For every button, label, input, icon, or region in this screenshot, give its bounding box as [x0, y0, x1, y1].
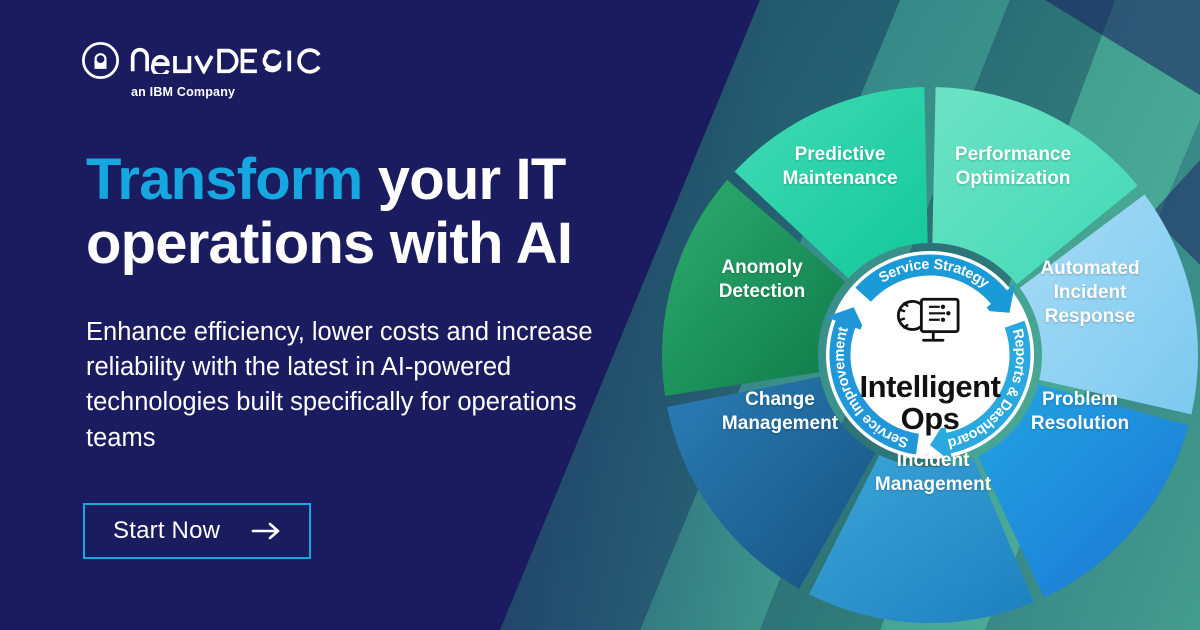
- neudesic-circle-mark-icon: [82, 42, 119, 79]
- hub-title: Intelligent Ops: [800, 371, 1060, 435]
- intelligent-ops-wheel: Service StrategyReports & DashboardServi…: [650, 75, 1200, 630]
- headline-accent: Transform: [86, 147, 362, 212]
- left-content-column: an IBM Company Transform your IToperatio…: [0, 0, 680, 630]
- logo-row: [82, 42, 335, 79]
- arrow-right-icon: [251, 521, 283, 541]
- start-now-label: Start Now: [113, 517, 220, 545]
- neudesic-wordmark: [130, 47, 335, 74]
- hub-title-line1: Intelligent: [860, 369, 1001, 404]
- brand-logo: an IBM Company: [82, 42, 335, 99]
- wheel-graphic: Service StrategyReports & DashboardServi…: [650, 75, 1200, 630]
- headline-line2: operations with AI: [86, 211, 572, 276]
- brand-tagline: an IBM Company: [131, 85, 335, 99]
- start-now-button[interactable]: Start Now: [83, 503, 311, 559]
- page-title: Transform your IToperations with AI: [86, 148, 686, 277]
- hub-title-line2: Ops: [901, 401, 960, 436]
- subtitle-text: Enhance efficiency, lower costs and incr…: [86, 315, 646, 456]
- headline-rest-line1: your IT: [362, 147, 565, 212]
- banner-canvas: an IBM Company Transform your IToperatio…: [0, 0, 1200, 630]
